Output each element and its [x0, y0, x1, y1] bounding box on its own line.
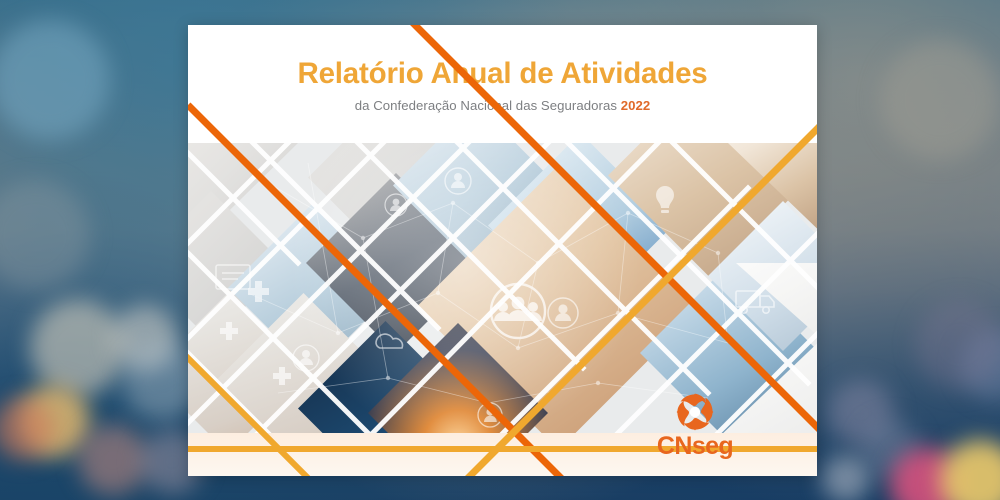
photo-collage [188, 143, 817, 433]
report-cover: Relatório Anual de Atividades da Confede… [188, 25, 817, 476]
page-subtitle: da Confederação Nacional das Seguradoras… [188, 89, 817, 113]
title-block: Relatório Anual de Atividades da Confede… [188, 25, 817, 143]
cnseg-wordmark: CNseg [635, 434, 755, 459]
cnseg-pinwheel-logo-icon [675, 392, 715, 432]
cnseg-logo: CNseg [635, 392, 755, 459]
subtitle-text: da Confederação Nacional das Seguradoras [355, 98, 617, 113]
subtitle-year: 2022 [621, 98, 651, 113]
page-title: Relatório Anual de Atividades [188, 25, 817, 89]
screenshot-stage: Relatório Anual de Atividades da Confede… [0, 0, 1000, 500]
